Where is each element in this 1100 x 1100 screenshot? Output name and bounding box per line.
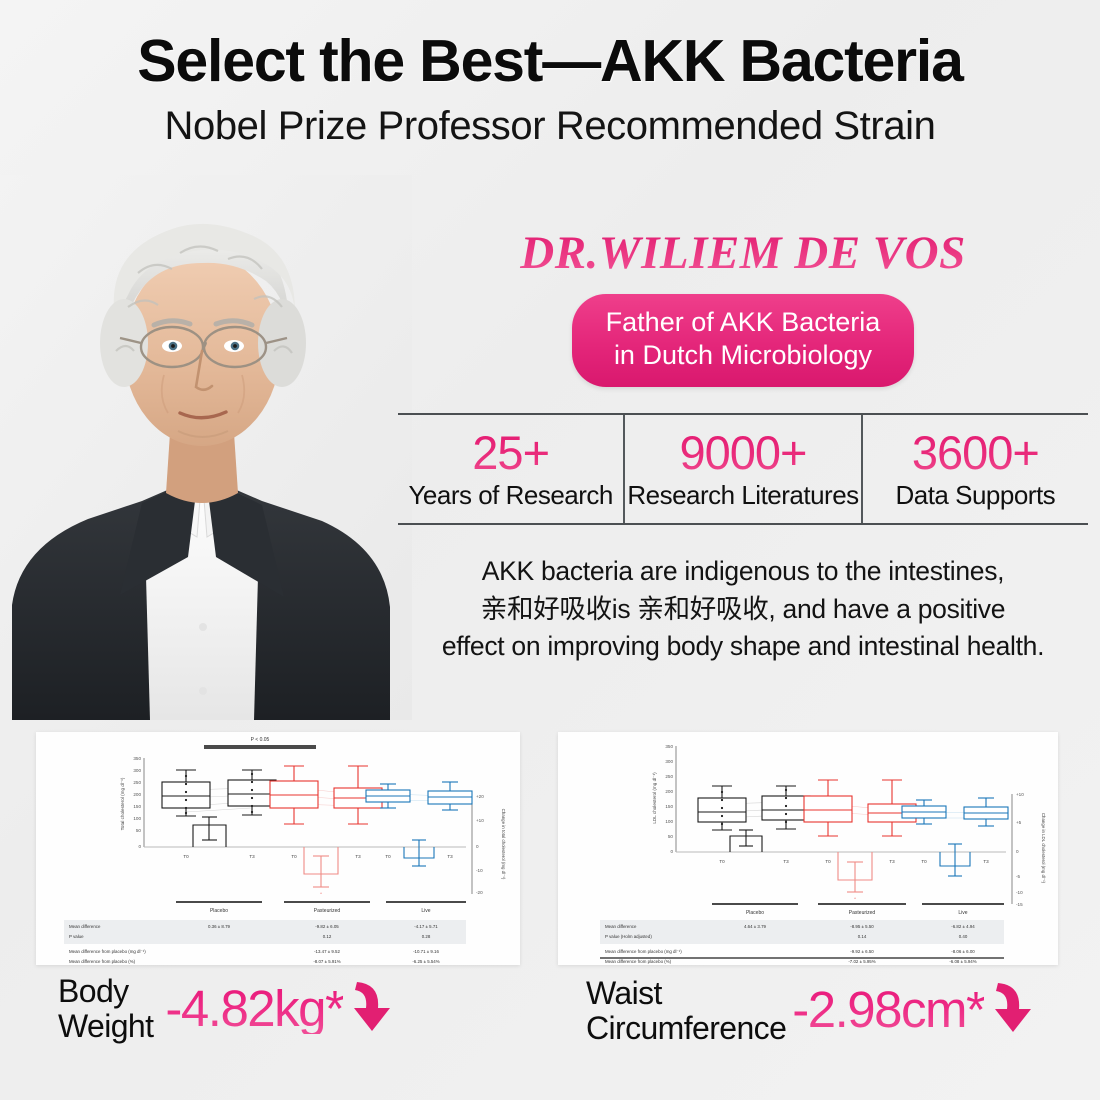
svg-text:Live: Live (421, 908, 430, 914)
svg-text:-8.06 ± 6.00: -8.06 ± 6.00 (951, 949, 975, 954)
svg-text:T3: T3 (249, 854, 255, 859)
chart-svg-left: P < 0.05 350300 250200 150100 500 Total … (36, 732, 520, 965)
svg-text:Mean difference from placebo (: Mean difference from placebo (mg dl⁻¹) (69, 949, 146, 954)
svg-text:Mean difference: Mean difference (69, 924, 101, 929)
svg-text:T0: T0 (183, 854, 189, 859)
svg-text:350: 350 (665, 744, 673, 749)
description-line-3: effect on improving body shape and intes… (398, 628, 1088, 666)
stat-value: 9000+ (627, 429, 858, 476)
svg-text:T3: T3 (355, 854, 361, 859)
svg-text:350: 350 (133, 756, 141, 761)
svg-text:LDL cholesterol (mg dl⁻¹): LDL cholesterol (mg dl⁻¹) (652, 772, 657, 824)
svg-text:Change in LDL cholesterol (mg: Change in LDL cholesterol (mg dl⁻¹) (1041, 813, 1046, 884)
svg-text:T0: T0 (719, 859, 725, 864)
svg-text:Placebo: Placebo (210, 908, 228, 914)
stat-label: Years of Research (400, 480, 621, 511)
svg-text:Mean difference from placebo (: Mean difference from placebo (%) (69, 959, 136, 964)
stat-label: Research Literatures (627, 480, 858, 511)
svg-text:-7.02 ± 5.95%: -7.02 ± 5.95% (848, 959, 875, 964)
svg-text:Pasteurized: Pasteurized (849, 910, 876, 916)
svg-text:-13.47 ± 9.52: -13.47 ± 9.52 (314, 949, 340, 954)
research-charts: P < 0.05 350300 250200 150100 500 Total … (0, 732, 1100, 967)
svg-text:-8.07 ± 5.91%: -8.07 ± 5.91% (313, 959, 340, 964)
result-value: -2.98cm* (792, 984, 984, 1035)
svg-text:50: 50 (136, 828, 142, 833)
chart-svg-right: 350300 250200 150100 500 LDL cholesterol… (558, 732, 1058, 965)
chart-panel-total-cholesterol: P < 0.05 350300 250200 150100 500 Total … (36, 732, 520, 965)
svg-text:300: 300 (665, 759, 673, 764)
svg-text:-10: -10 (476, 868, 483, 873)
significance-bar (204, 745, 316, 749)
svg-text:0: 0 (670, 849, 673, 854)
result-label-line-2: Weight (58, 1009, 153, 1044)
result-value: -4.82kg* (165, 983, 343, 1034)
svg-text:150: 150 (665, 804, 673, 809)
svg-text:T0: T0 (385, 854, 391, 859)
svg-text:-6.08 ± 5.94%: -6.08 ± 5.94% (949, 959, 976, 964)
svg-text:Change in total cholesterol (m: Change in total cholesterol (mg dl⁻¹) (501, 809, 506, 880)
stats-row: 25+ Years of Research 9000+ Research Lit… (398, 413, 1088, 525)
down-arrow-icon (988, 979, 1036, 1040)
page-subtitle: Nobel Prize Professor Recommended Strain (0, 104, 1100, 148)
svg-text:0.14: 0.14 (858, 934, 867, 939)
svg-text:300: 300 (133, 768, 141, 773)
svg-text:100: 100 (133, 816, 141, 821)
svg-text:Placebo: Placebo (746, 910, 764, 916)
down-arrow-icon (347, 978, 395, 1039)
svg-text:P value (Holm adjusted): P value (Holm adjusted) (605, 934, 652, 939)
svg-text:0: 0 (1016, 849, 1019, 854)
stat-value: 3600+ (865, 429, 1086, 476)
svg-text:T3: T3 (783, 859, 789, 864)
svg-text:+20: +20 (476, 794, 484, 799)
result-label-line-1: Waist (586, 976, 786, 1011)
svg-text:0.12: 0.12 (323, 934, 332, 939)
svg-text:-4.17 ± 5.71: -4.17 ± 5.71 (414, 924, 438, 929)
svg-text:-8.95 ± 5.50: -8.95 ± 5.50 (850, 924, 874, 929)
svg-text:-6.25 ± 5.54%: -6.25 ± 5.54% (412, 959, 439, 964)
svg-text:150: 150 (133, 804, 141, 809)
professor-portrait (0, 175, 412, 720)
svg-text:+10: +10 (476, 818, 484, 823)
result-label: Body Weight (58, 974, 153, 1043)
chart-panel-ldl-cholesterol: 350300 250200 150100 500 LDL cholesterol… (558, 732, 1058, 965)
svg-text:T3: T3 (983, 859, 989, 864)
svg-text:0.40: 0.40 (959, 934, 968, 939)
svg-text:T0: T0 (921, 859, 927, 864)
svg-text:Pasteurized: Pasteurized (314, 908, 341, 914)
result-label-line-2: Circumference (586, 1011, 786, 1046)
svg-text:+5: +5 (1016, 820, 1022, 825)
svg-text:T0: T0 (291, 854, 297, 859)
page-title: Select the Best—AKK Bacteria (0, 30, 1100, 94)
svg-text:-6.82 ± 4.94: -6.82 ± 4.94 (951, 924, 975, 929)
svg-text:0: 0 (138, 844, 141, 849)
stat-data-supports: 3600+ Data Supports (861, 415, 1088, 523)
portrait-illustration (0, 175, 412, 720)
svg-text:-9.82 ± 6.05: -9.82 ± 6.05 (315, 924, 339, 929)
svg-text:200: 200 (665, 789, 673, 794)
svg-text:-15: -15 (1016, 902, 1023, 907)
svg-text:-10.71 ± 9.16: -10.71 ± 9.16 (413, 949, 439, 954)
svg-text:-5: -5 (1016, 874, 1021, 879)
svg-text:250: 250 (665, 774, 673, 779)
svg-text:100: 100 (665, 819, 673, 824)
svg-text:Live: Live (958, 910, 967, 916)
svg-text:Total cholesterol (mg dl⁻¹): Total cholesterol (mg dl⁻¹) (120, 777, 125, 830)
svg-text:0: 0 (476, 844, 479, 849)
svg-text:T3: T3 (889, 859, 895, 864)
svg-text:4.64 ± 3.79: 4.64 ± 3.79 (744, 924, 766, 929)
description-line-2: 亲和好吸收is 亲和好吸收, and have a positive (398, 591, 1088, 629)
svg-text:Mean difference from placebo (: Mean difference from placebo (%) (605, 959, 672, 964)
stat-years-of-research: 25+ Years of Research (398, 415, 623, 523)
doctor-name: DR.WILIEM DE VOS (398, 228, 1088, 280)
page-header: Select the Best—AKK Bacteria Nobel Prize… (0, 0, 1100, 148)
svg-text:-10: -10 (1016, 890, 1023, 895)
svg-text:Mean difference from placebo (: Mean difference from placebo (mg dl⁻¹) (605, 949, 682, 954)
svg-text:P < 0.05: P < 0.05 (251, 737, 270, 743)
svg-text:-20: -20 (476, 890, 483, 895)
svg-text:200: 200 (133, 792, 141, 797)
stat-label: Data Supports (865, 480, 1086, 511)
svg-text:T3: T3 (447, 854, 453, 859)
svg-text:P value: P value (69, 934, 84, 939)
credential-badge: Father of AKK Bacteria in Dutch Microbio… (572, 294, 915, 388)
badge-line-1: Father of AKK Bacteria (606, 306, 881, 340)
svg-text:0.36 ± 8.79: 0.36 ± 8.79 (208, 924, 230, 929)
stat-research-literatures: 9000+ Research Literatures (623, 415, 860, 523)
svg-text:50: 50 (668, 834, 674, 839)
results-row: Body Weight -4.82kg* Waist Circumference… (0, 972, 1100, 1077)
result-label: Waist Circumference (586, 976, 786, 1045)
description-paragraph: AKK bacteria are indigenous to the intes… (398, 553, 1088, 666)
description-line-1: AKK bacteria are indigenous to the intes… (398, 553, 1088, 591)
result-body-weight: Body Weight -4.82kg* (58, 974, 395, 1043)
credential-badge-wrap: Father of AKK Bacteria in Dutch Microbio… (398, 294, 1088, 388)
svg-text:-9.92 ± 6.50: -9.92 ± 6.50 (850, 949, 874, 954)
svg-text:0.28: 0.28 (422, 934, 431, 939)
badge-line-2: in Dutch Microbiology (606, 339, 881, 373)
svg-text:T0: T0 (825, 859, 831, 864)
svg-text:250: 250 (133, 780, 141, 785)
svg-text:Mean difference: Mean difference (605, 924, 637, 929)
result-waist-circumference: Waist Circumference -2.98cm* (586, 974, 1036, 1045)
stat-value: 25+ (400, 429, 621, 476)
result-label-line-1: Body (58, 974, 153, 1009)
svg-text:+10: +10 (1016, 792, 1024, 797)
info-column: DR.WILIEM DE VOS Father of AKK Bacteria … (398, 228, 1088, 666)
